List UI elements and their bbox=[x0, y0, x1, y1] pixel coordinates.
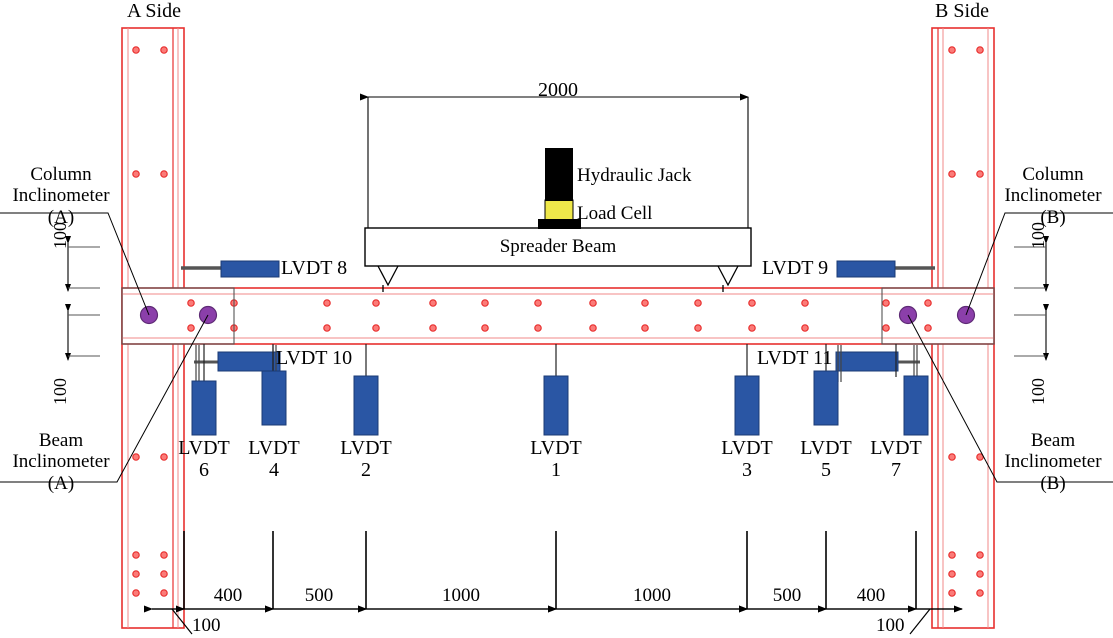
lvdt-9-label: LVDT 9 bbox=[762, 257, 828, 279]
bottom-leader-100-left: 100 bbox=[192, 615, 221, 636]
lvdt-4-label: LVDT 4 bbox=[232, 437, 316, 482]
bi-b-line3: (B) bbox=[993, 473, 1113, 494]
offset-dim-left-top: 100 bbox=[50, 222, 70, 249]
label-a-side: A Side bbox=[108, 0, 200, 22]
lvdt-4-number: 4 bbox=[232, 459, 316, 481]
bi-a-line2: Inclinometer bbox=[0, 451, 122, 472]
vertical-lvdt-7 bbox=[896, 344, 928, 435]
ci-b-line3: (B) bbox=[993, 207, 1113, 228]
lvdt-7-title: LVDT bbox=[854, 437, 938, 459]
test-beam bbox=[122, 288, 994, 344]
lvdt-4-title: LVDT bbox=[232, 437, 316, 459]
lvdt-2-label: LVDT 2 bbox=[324, 437, 408, 482]
offset-dim-right-bottom: 100 bbox=[1028, 378, 1048, 405]
bottom-dimension-chain bbox=[152, 531, 962, 634]
right-offset-dimensions bbox=[1014, 243, 1046, 360]
lvdt-2-number: 2 bbox=[324, 459, 408, 481]
lvdt-1-title: LVDT bbox=[514, 437, 598, 459]
hydraulic-jack bbox=[545, 148, 573, 201]
diagram-canvas: A Side B Side 2000 Hydraulic Jack Load C… bbox=[0, 0, 1113, 638]
lvdt-10-label: LVDT 10 bbox=[276, 347, 352, 369]
label-b-side: B Side bbox=[916, 0, 1008, 22]
load-cell bbox=[538, 200, 581, 229]
vertical-lvdt-2 bbox=[354, 344, 378, 435]
bottom-dim-500-right: 500 bbox=[747, 585, 827, 606]
hydraulic-jack-label: Hydraulic Jack bbox=[577, 165, 691, 186]
spreader-beam-label: Spreader Beam bbox=[365, 236, 751, 257]
lvdt-7-number: 7 bbox=[854, 459, 938, 481]
lvdt-1-number: 1 bbox=[514, 459, 598, 481]
lvdt-11-label: LVDT 11 bbox=[757, 347, 832, 369]
bi-a-line3: (A) bbox=[0, 473, 122, 494]
bi-a-line1: Beam bbox=[0, 430, 122, 451]
bottom-dim-1000-right: 1000 bbox=[607, 585, 697, 606]
offset-dim-left-bottom: 100 bbox=[50, 378, 70, 405]
lvdt-8-label: LVDT 8 bbox=[281, 257, 347, 279]
bottom-dim-1000-left: 1000 bbox=[416, 585, 506, 606]
ci-a-line2: Inclinometer bbox=[0, 185, 122, 206]
bottom-dim-500-left: 500 bbox=[279, 585, 359, 606]
bi-b-line2: Inclinometer bbox=[993, 451, 1113, 472]
ci-b-line2: Inclinometer bbox=[993, 185, 1113, 206]
column-inclinometer-a-label: Column Inclinometer (A) bbox=[0, 164, 122, 228]
lvdt-9-assembly bbox=[837, 261, 935, 277]
column-inclinometer-b-label: Column Inclinometer (B) bbox=[993, 164, 1113, 228]
lvdt-7-label: LVDT 7 bbox=[854, 437, 938, 482]
offset-dim-right-top: 100 bbox=[1028, 222, 1048, 249]
lvdt-3-number: 3 bbox=[705, 459, 789, 481]
left-offset-dimensions bbox=[68, 243, 100, 360]
beam-inclinometer-a-label: Beam Inclinometer (A) bbox=[0, 430, 122, 494]
ci-a-line1: Column bbox=[0, 164, 122, 185]
lvdt-3-title: LVDT bbox=[705, 437, 789, 459]
ci-b-line1: Column bbox=[993, 164, 1113, 185]
bi-b-line1: Beam bbox=[993, 430, 1113, 451]
lvdt-2-title: LVDT bbox=[324, 437, 408, 459]
vertical-lvdt-3 bbox=[735, 344, 759, 435]
bottom-dim-400-right: 400 bbox=[831, 585, 911, 606]
bottom-leader-100-right: 100 bbox=[876, 615, 905, 636]
lvdt-8-assembly bbox=[181, 261, 279, 277]
lvdt-3-label: LVDT 3 bbox=[705, 437, 789, 482]
load-cell-label: Load Cell bbox=[577, 203, 652, 224]
vertical-lvdt-1 bbox=[544, 344, 568, 435]
beam-inclinometer-b-label: Beam Inclinometer (B) bbox=[993, 430, 1113, 494]
lvdt-1-label: LVDT 1 bbox=[514, 437, 598, 482]
bottom-dim-400-left: 400 bbox=[188, 585, 268, 606]
span-dimension-label: 2000 bbox=[508, 79, 608, 101]
